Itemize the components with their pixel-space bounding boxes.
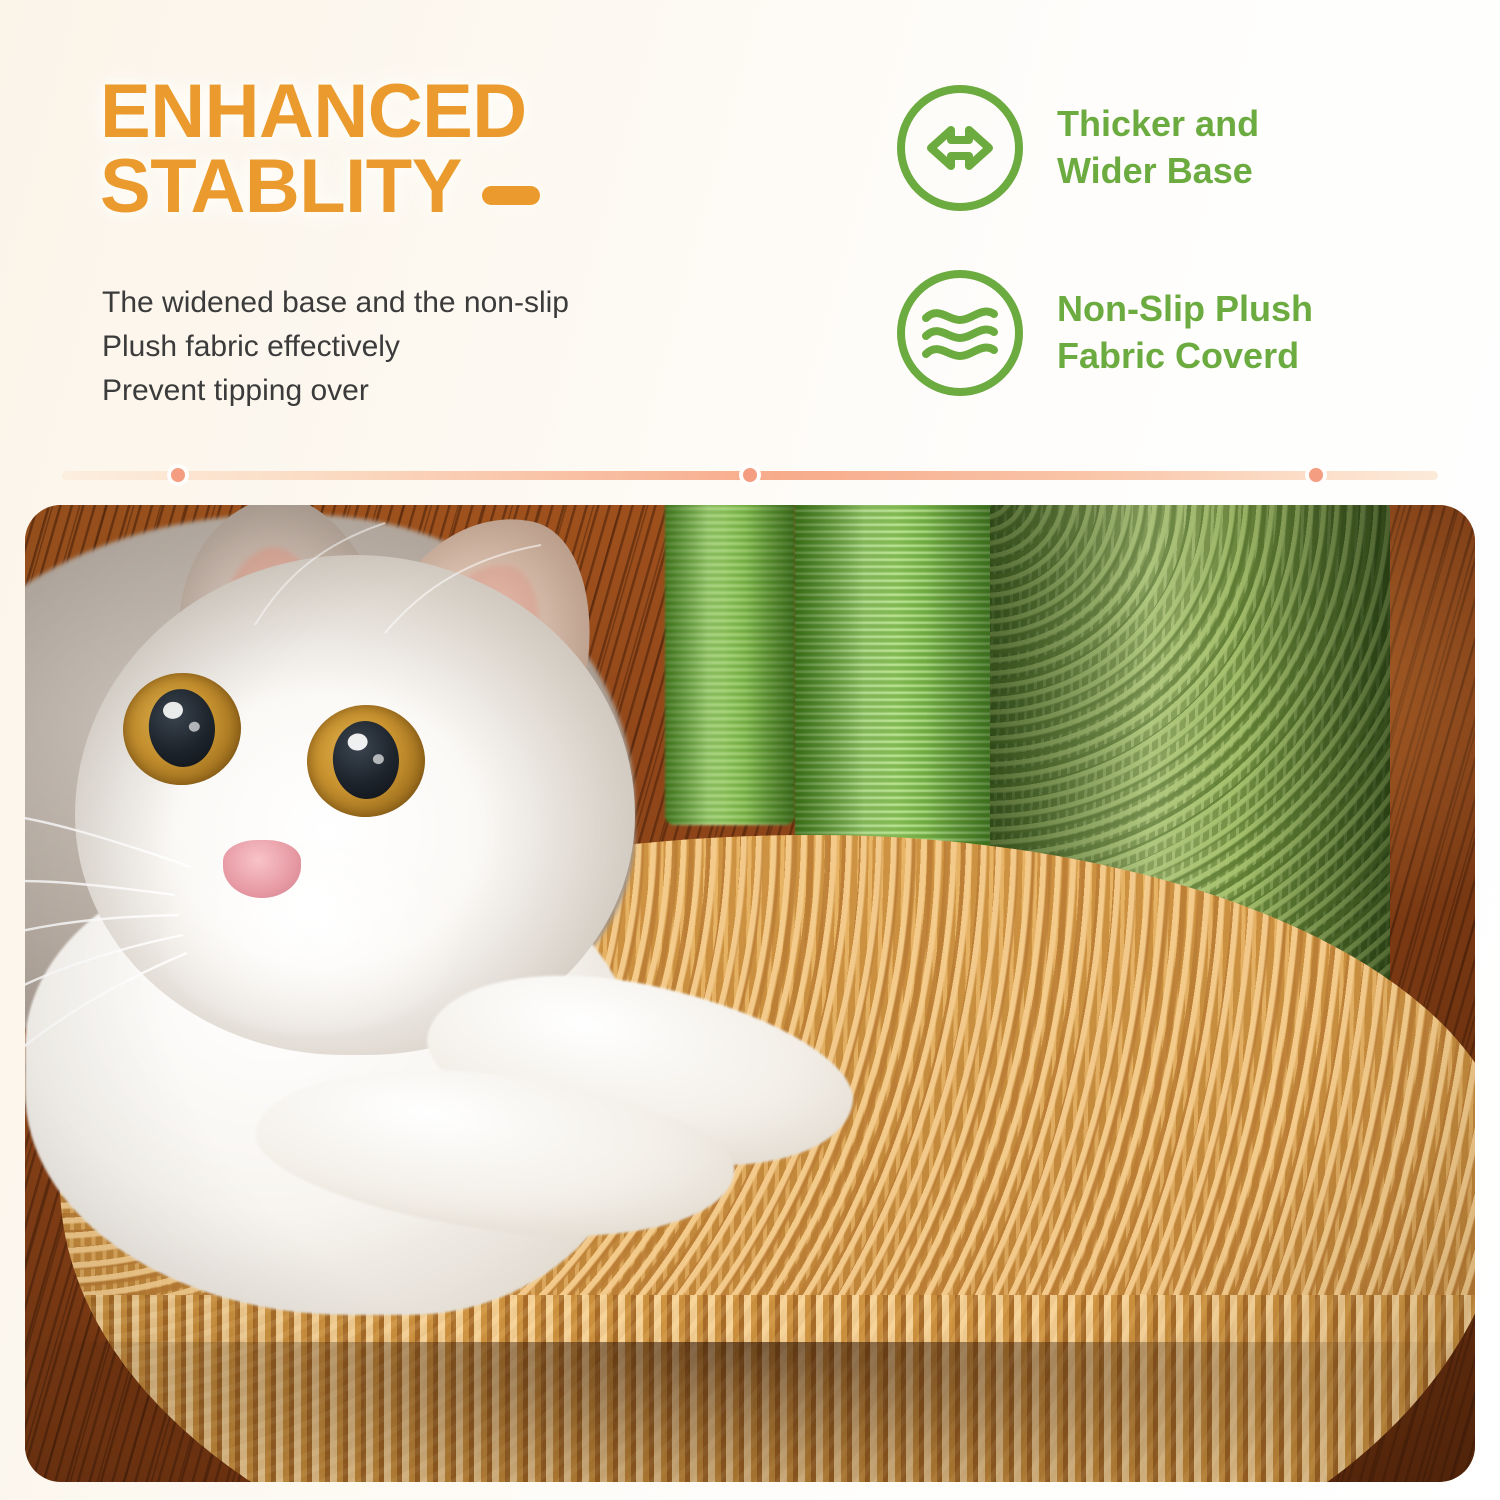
feature-label: Thicker and Wider Base	[1057, 101, 1259, 193]
divider	[0, 462, 1500, 488]
photo-scene	[25, 505, 1475, 1482]
product-photo	[25, 505, 1475, 1482]
photo-vignette	[25, 505, 1475, 1482]
headline-line-2: STABLITY	[100, 149, 462, 224]
feature-label: Non-Slip Plush Fabric Coverd	[1057, 286, 1313, 378]
horizontal-double-arrow-icon	[893, 81, 1027, 215]
feature-label-line-2: Fabric Coverd	[1057, 333, 1313, 379]
product-feature-card: ENHANCED STABLITY The widened base and t…	[0, 0, 1500, 1500]
feature-label-line-2: Wider Base	[1057, 148, 1259, 194]
description-line-3: Prevent tipping over	[102, 369, 782, 413]
divider-dot	[739, 464, 761, 486]
feature-label-line-1: Thicker and	[1057, 101, 1259, 147]
feature-label-line-1: Non-Slip Plush	[1057, 286, 1313, 332]
description-text: The widened base and the non-slip Plush …	[102, 281, 782, 413]
info-band: ENHANCED STABLITY The widened base and t…	[0, 0, 1500, 460]
divider-dot	[167, 464, 189, 486]
description-line-1: The widened base and the non-slip	[102, 281, 782, 325]
feature-list: Thicker and Wider Base Non-Slip Plush Fa…	[893, 80, 1313, 450]
headline-line-2-row: STABLITY	[100, 149, 740, 224]
page-title: ENHANCED STABLITY	[100, 74, 740, 224]
divider-dot	[1305, 464, 1327, 486]
underscore-dash-icon	[482, 186, 540, 205]
description-line-2: Plush fabric effectively	[102, 325, 782, 369]
feature-item-non-slip-plush-fabric: Non-Slip Plush Fabric Coverd	[893, 265, 1313, 400]
headline-line-1: ENHANCED	[100, 74, 740, 149]
feature-item-thicker-wider-base: Thicker and Wider Base	[893, 80, 1313, 215]
wavy-lines-icon	[893, 266, 1027, 400]
